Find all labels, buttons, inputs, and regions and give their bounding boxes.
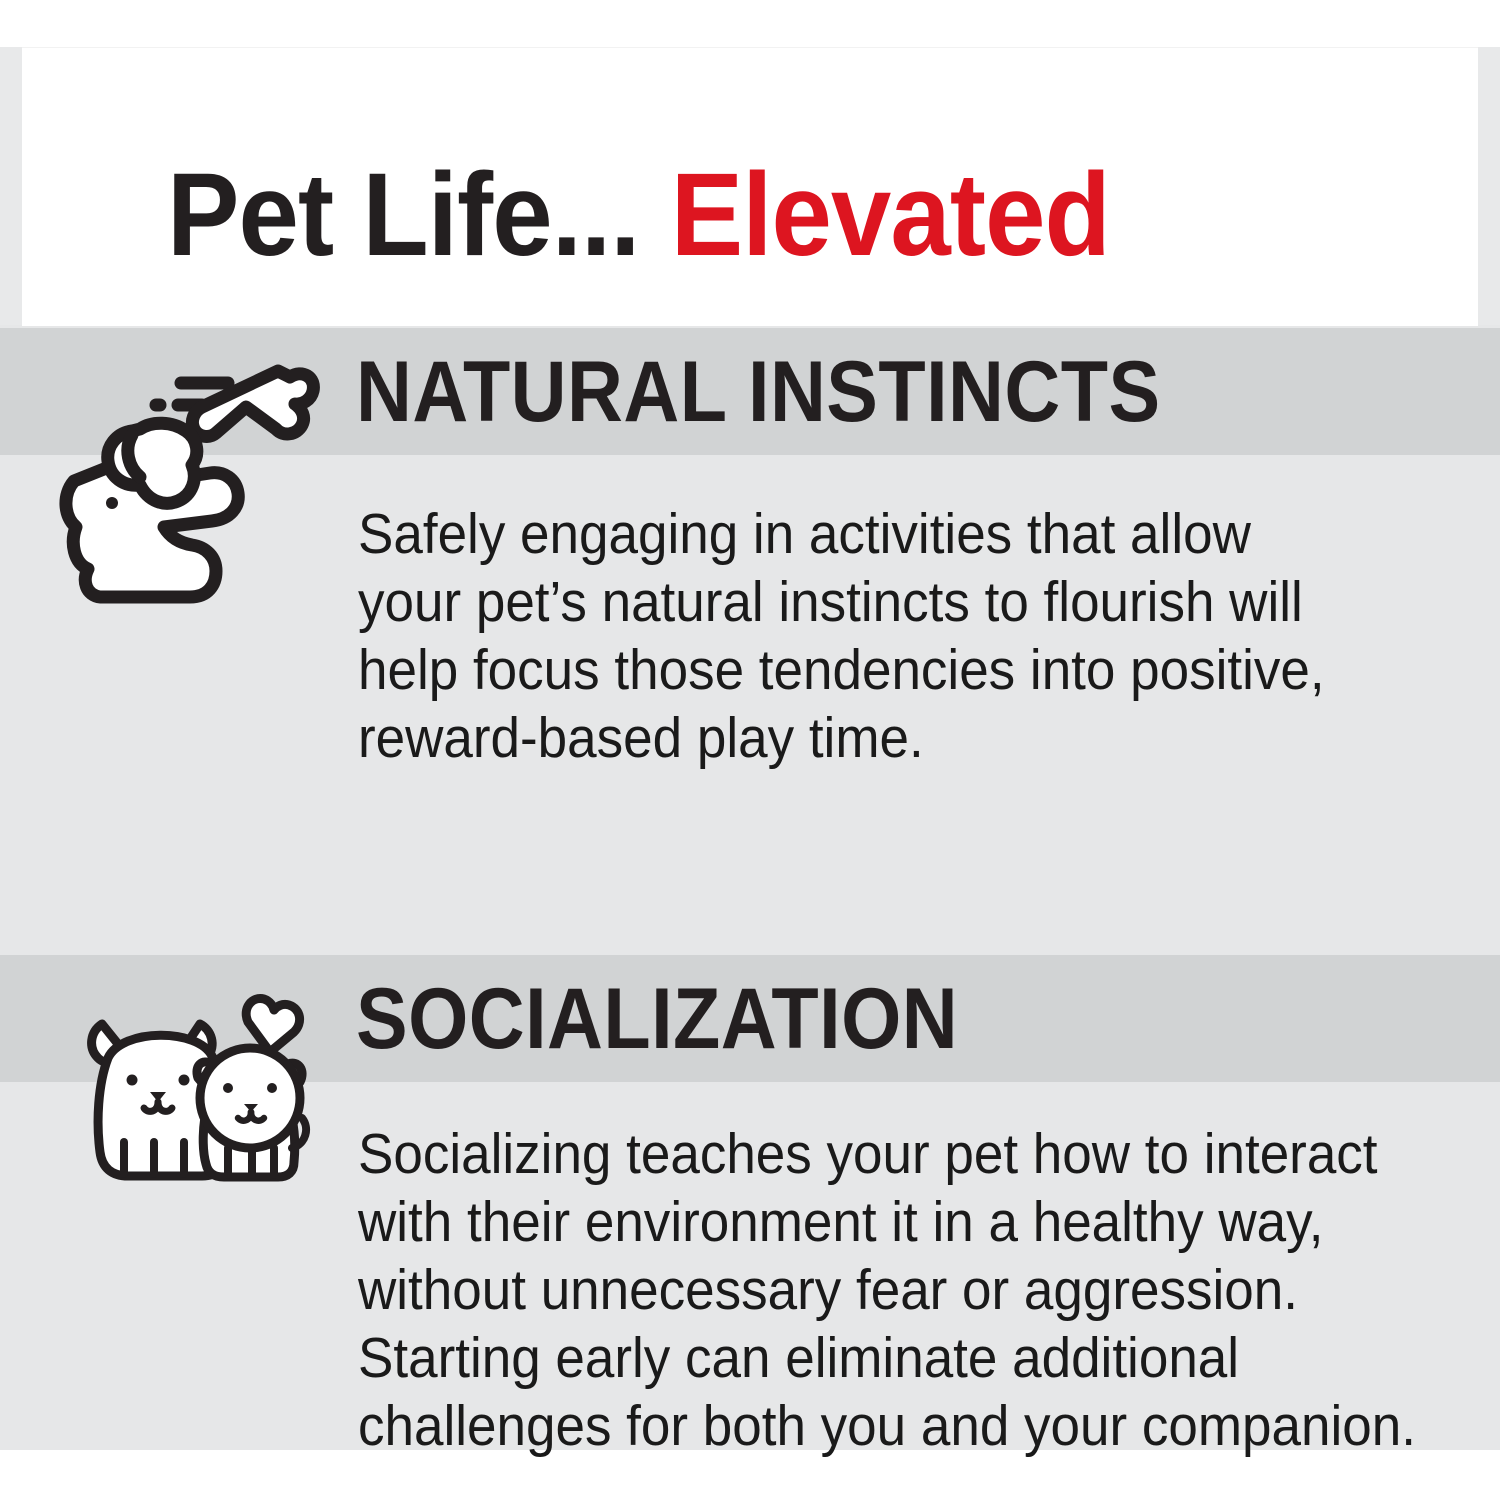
header-right-margin-strip — [1478, 47, 1500, 325]
brand-tagline-red: Elevated — [671, 149, 1110, 281]
section-body-socialization: Socializing teaches your pet how to inte… — [358, 1120, 1416, 1460]
body-line: help focus those tendencies into positiv… — [358, 636, 1325, 704]
section-title-natural-instincts: NATURAL INSTINCTS — [356, 349, 1161, 435]
dog-chasing-bone-icon — [40, 355, 320, 610]
body-line: your pet’s natural instincts to flourish… — [358, 568, 1325, 636]
body-line: Safely engaging in activities that allow — [358, 500, 1325, 568]
top-white-band — [0, 0, 1500, 47]
body-line: Socializing teaches your pet how to inte… — [358, 1120, 1416, 1188]
body-line: without unnecessary fear or aggression. — [358, 1256, 1416, 1324]
header-left-margin-strip — [0, 47, 22, 325]
dog-and-cat-with-heart-icon — [62, 972, 322, 1187]
brand-tagline: Pet Life...Elevated — [167, 156, 1110, 274]
section-body-natural-instincts: Safely engaging in activities that allow… — [358, 500, 1325, 772]
body-line: Starting early can eliminate additional — [358, 1324, 1416, 1392]
body-line: challenges for both you and your compani… — [358, 1392, 1416, 1460]
brand-tagline-black: Pet Life... — [167, 149, 639, 281]
body-line: reward-based play time. — [358, 704, 1325, 772]
infographic-page: Pet Life...Elevated NATUR — [0, 0, 1500, 1500]
section-title-socialization: SOCIALIZATION — [356, 976, 958, 1062]
brand-header-card: Pet Life...Elevated — [22, 47, 1478, 326]
body-line: with their environment it in a healthy w… — [358, 1188, 1416, 1256]
